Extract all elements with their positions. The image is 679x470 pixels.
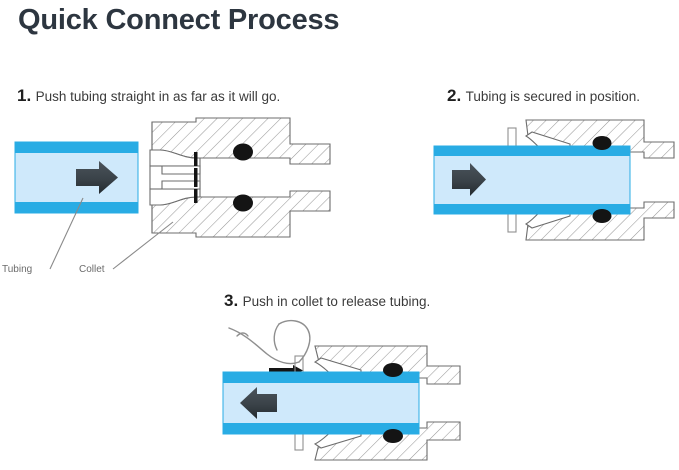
step-3-text: Push in collet to release tubing. bbox=[243, 294, 431, 309]
oring-upper bbox=[593, 136, 612, 150]
step-3-diagram bbox=[215, 310, 470, 470]
oring-lower bbox=[383, 429, 403, 443]
step-3-number: 3. bbox=[224, 291, 238, 310]
leader-line-collet bbox=[113, 222, 173, 269]
step-1-caption: 1. Push tubing straight in as far as it … bbox=[17, 86, 280, 106]
oring-upper bbox=[233, 144, 253, 161]
step-2-diagram bbox=[420, 106, 679, 256]
finger-icon bbox=[229, 321, 310, 364]
oring-lower bbox=[233, 195, 253, 212]
step-2-text: Tubing is secured in position. bbox=[466, 89, 640, 104]
step-1-diagram bbox=[0, 106, 360, 281]
step-2-caption: 2. Tubing is secured in position. bbox=[447, 86, 640, 106]
step-3-caption: 3. Push in collet to release tubing. bbox=[224, 291, 430, 311]
step-2-number: 2. bbox=[447, 86, 461, 105]
step-1-number: 1. bbox=[17, 86, 31, 105]
annotation-label-collet: Collet bbox=[79, 264, 105, 275]
step-1-text: Push tubing straight in as far as it wil… bbox=[36, 89, 281, 104]
page-title: Quick Connect Process bbox=[18, 4, 339, 37]
oring-lower bbox=[593, 209, 612, 223]
diagram-page: Quick Connect Process 1. Push tubing str… bbox=[0, 0, 679, 470]
oring-upper bbox=[383, 363, 403, 377]
collet-assembly bbox=[150, 150, 200, 205]
annotation-label-tubing: Tubing bbox=[2, 264, 32, 275]
